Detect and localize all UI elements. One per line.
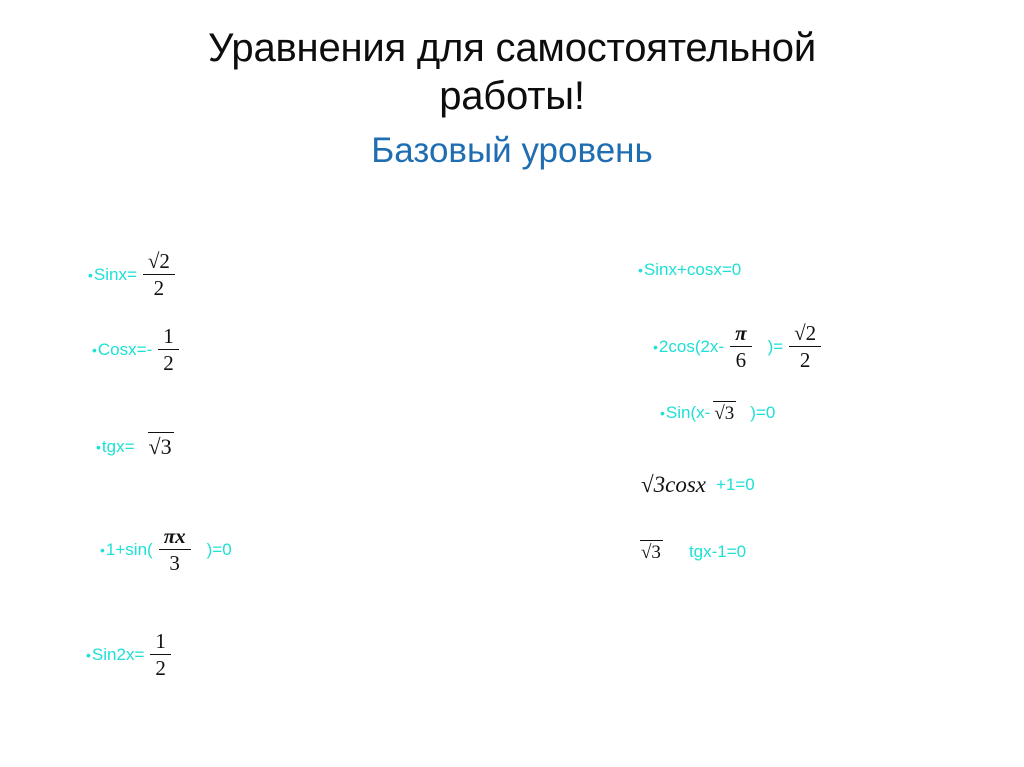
bullet-icon: •	[100, 540, 105, 560]
equation-math-lhs: √3cosx	[641, 472, 706, 498]
equation-item: √3cosx +1=0	[641, 472, 755, 498]
radical-body: √3	[713, 401, 736, 424]
equation-rhs: +1=0	[716, 475, 755, 495]
equation-rhs: tgx-1=0	[689, 542, 746, 562]
equation-lhs: tgx=	[102, 437, 135, 457]
bullet-icon: •	[88, 265, 93, 285]
radical-sqrt3: √3	[641, 543, 663, 562]
fraction-numerator: πx	[159, 525, 191, 550]
bullet-icon: •	[660, 403, 665, 423]
equation-lhs: Sin(x-	[666, 403, 710, 423]
equation-lhs: Sin	[92, 645, 117, 665]
radical-sqrt3: √3	[714, 404, 736, 423]
equation-item: • tgx= √3	[96, 436, 178, 458]
fraction-denominator: 2	[795, 347, 816, 372]
radical-body: √3	[640, 540, 663, 563]
bullet-icon: •	[653, 337, 658, 357]
fraction-numerator: 1	[150, 630, 171, 655]
equation-rhs: )=0	[207, 540, 232, 560]
fraction-denominator: 6	[731, 347, 752, 372]
equation-lhs: 1+sin(	[106, 540, 153, 560]
equation-exponent: 2	[116, 645, 125, 665]
equation-lhs: Sinx=	[94, 265, 137, 285]
page-subtitle: Базовый уровень	[60, 130, 964, 172]
fraction-numerator: π	[730, 322, 751, 347]
bullet-icon: •	[638, 260, 643, 280]
radical-body: √3	[148, 432, 174, 459]
equation-item: • Sinx= √2 2	[88, 250, 181, 299]
fraction-denominator: 2	[150, 655, 171, 680]
fraction-denominator: 2	[158, 350, 179, 375]
equation-rhs: )=0	[750, 403, 775, 423]
fraction: 1 2	[158, 325, 179, 374]
fraction-denominator: 3	[164, 550, 185, 575]
bullet-icon: •	[86, 645, 91, 665]
fraction-numerator: √2	[143, 250, 175, 275]
fraction: √2 2	[143, 250, 175, 299]
fraction-numerator: 1	[158, 325, 179, 350]
fraction: 1 2	[150, 630, 171, 679]
equation-item: • Sinx+cosx=0	[638, 260, 741, 280]
fraction-numerator: √2	[789, 322, 821, 347]
equation-item: √3 tgx-1=0	[637, 542, 746, 562]
equation-lhs: Sinx+cosx=0	[644, 260, 741, 280]
title-block: Уравнения для самостоятельной работы! Ба…	[60, 24, 964, 172]
bullet-icon: •	[92, 340, 97, 360]
equation-lhs-tail: x=	[126, 645, 144, 665]
fraction-denominator: 2	[149, 275, 170, 300]
equation-item: • Sin(x- √3 )=0	[660, 403, 775, 423]
radical-sqrt3: √3	[149, 436, 174, 458]
bullet-icon: •	[96, 437, 101, 457]
equation-lhs: Cosx=-	[98, 340, 152, 360]
equation-lhs: 2cos(2x-	[659, 337, 724, 357]
equation-mid: )=	[768, 337, 784, 357]
fraction: π 6	[730, 322, 751, 371]
equation-item: • Cosx=- 1 2	[92, 325, 185, 374]
fraction-second: √2 2	[789, 322, 821, 371]
equation-item: • 1+sin( πx 3 )=0	[100, 525, 232, 574]
page-title: Уравнения для самостоятельной работы!	[60, 24, 964, 120]
fraction: πx 3	[159, 525, 191, 574]
equation-item: • Sin 2 x= 1 2	[86, 630, 177, 679]
slide-canvas: Уравнения для самостоятельной работы! Ба…	[0, 0, 1024, 767]
equation-item: • 2cos(2x- π 6 )= √2 2	[653, 322, 827, 371]
